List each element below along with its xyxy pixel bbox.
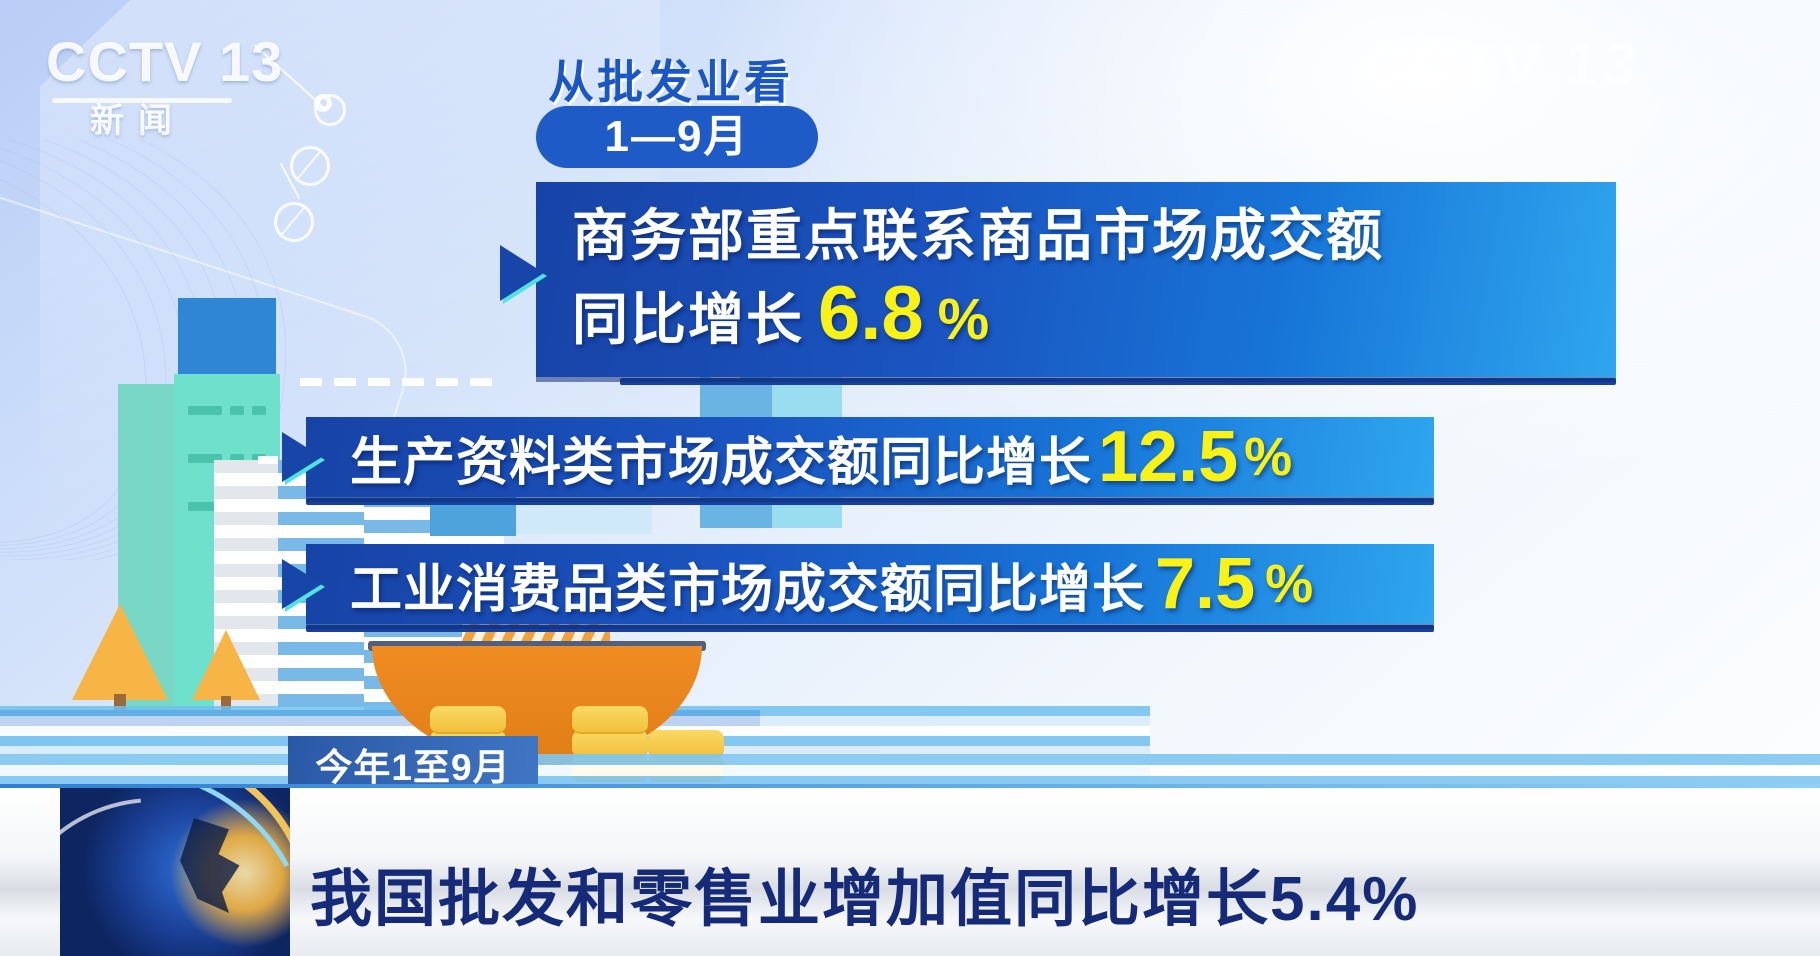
cctv13-logo-subtitle: 新闻 [90,104,186,138]
stat-banner-1-line1: 商务部重点联系商品市场成交额 [572,204,1384,268]
period-badge: 1—9月 [536,106,818,168]
cctv-watermark: CCTV 13 [1362,30,1644,99]
stat-banner-3-underline [306,625,1434,632]
stat-banner-3-text: 工业消费品类市场成交额同比增长 [350,547,1145,622]
globe-graphic [60,788,290,956]
stat-banner-1-line2-label: 同比增长 [572,289,804,351]
cctv13-logo-text: CCTV 13 [46,34,286,90]
cctv13-logo: CCTV 13 新闻 [46,34,286,144]
tree-small [192,632,260,714]
lower-third-tag-label: 今年1至9月 [315,737,510,791]
dashed-connector [300,378,500,386]
lower-third-headline: 我国批发和零售业增加值同比增长5.4% [310,848,1419,938]
page-title: 从批发业看 [548,46,793,112]
stat-banner-1-unit: % [938,288,990,352]
stat-banner-2-text: 生产资料类市场成交额同比增长 [350,420,1092,495]
stat-banner-2-value: 12.5 [1098,421,1238,493]
stat-banner-2: 生产资料类市场成交额同比增长 12.5 % [306,417,1434,497]
period-badge-label: 1—9月 [605,115,750,159]
broadcast-graphic: CCTV 13 CCTV 13 新闻 [0,0,1820,956]
stat-banner-2-unit: % [1244,430,1292,484]
chevron-icon-3 [282,559,322,609]
tree-large [72,604,168,714]
stat-banner-1: 商务部重点联系商品市场成交额 同比增长 6.8 % [536,182,1616,377]
chevron-icon-2 [282,432,322,482]
stat-banner-3-unit: % [1265,557,1313,611]
stat-banner-3-value: 7.5 [1155,548,1255,620]
stat-banner-3: 工业消费品类市场成交额同比增长 7.5 % [306,544,1434,624]
stat-banner-1-underline [620,378,1616,385]
stat-banner-2-underline [306,498,1434,505]
stat-banner-1-value: 6.8 [818,272,924,356]
chevron-icon-1 [500,245,544,301]
